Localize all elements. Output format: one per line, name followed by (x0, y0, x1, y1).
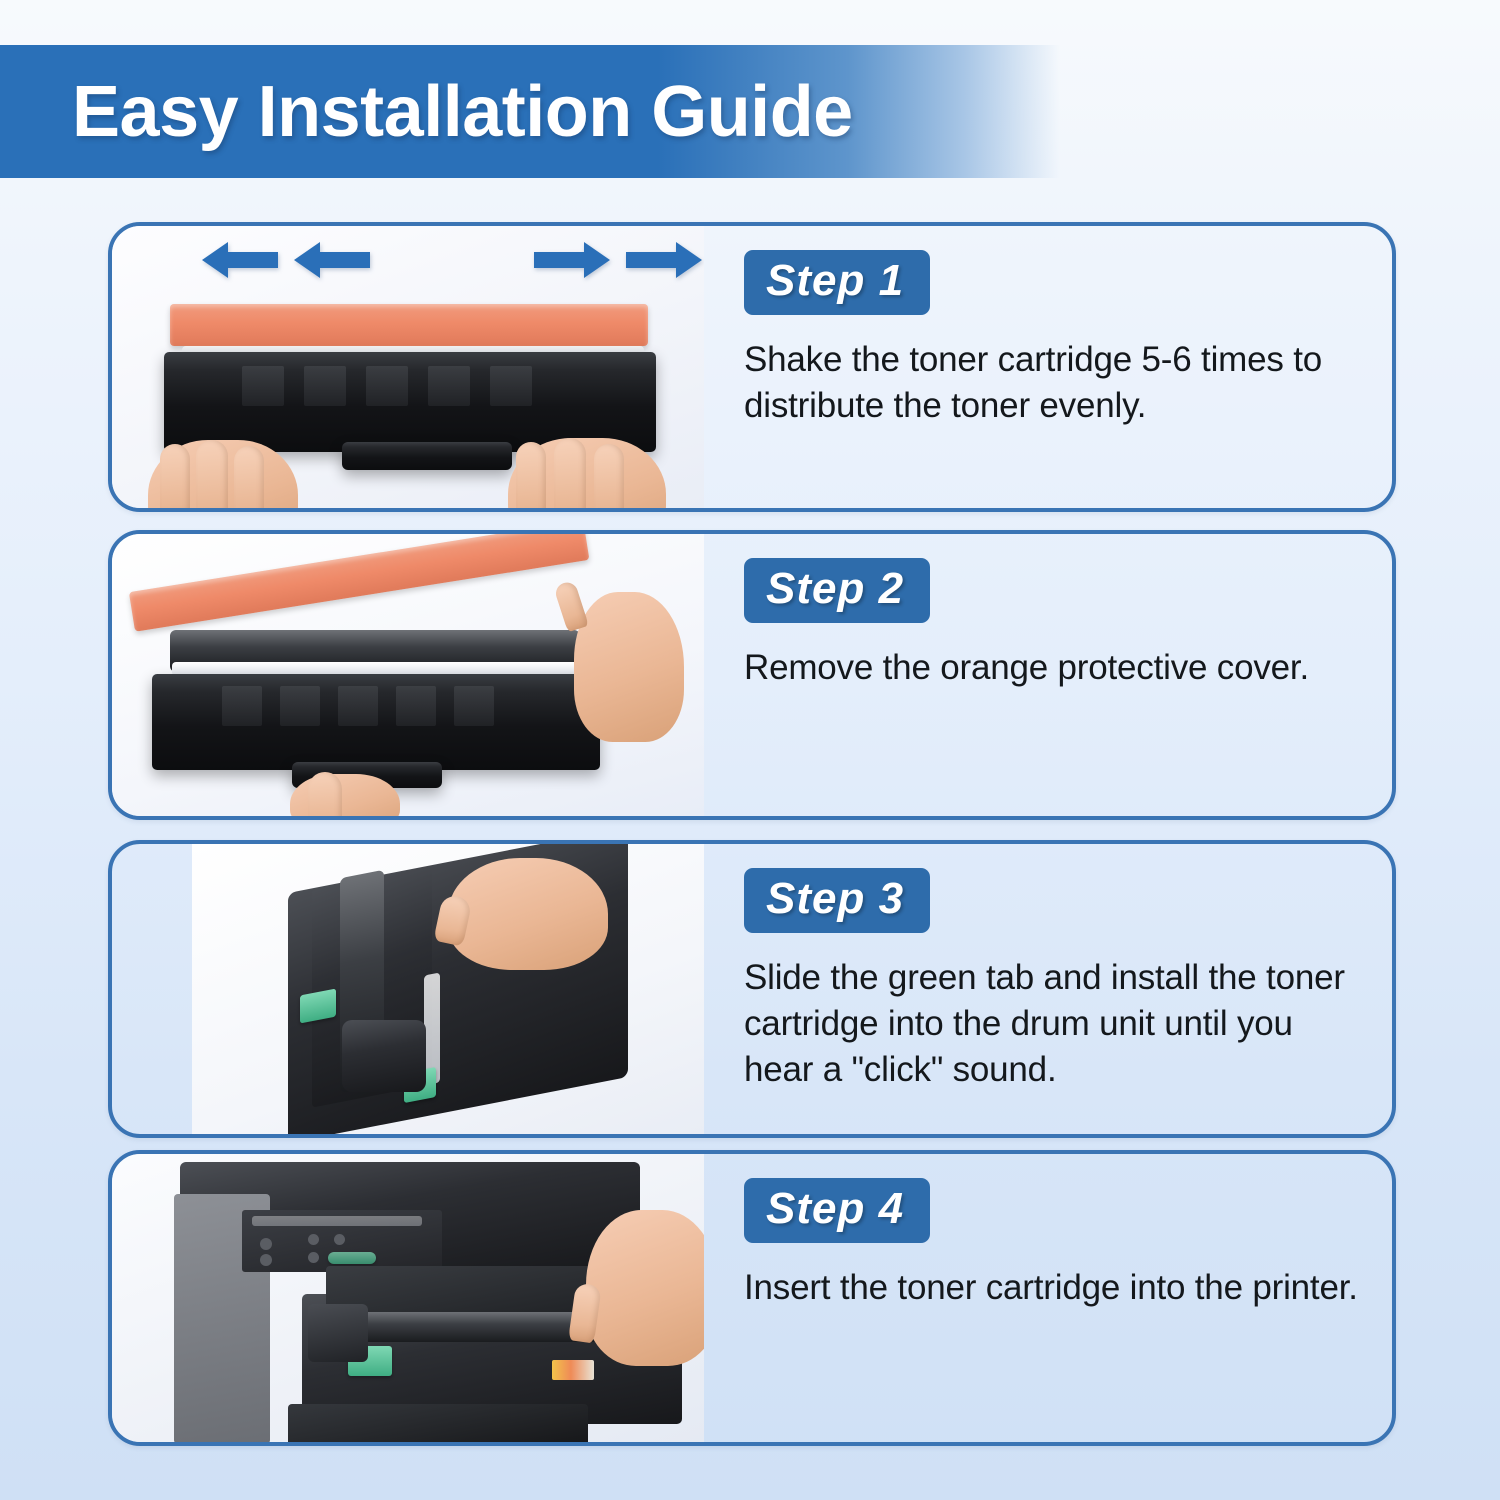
inserting-hand (586, 1210, 704, 1366)
step-card-2: Step 2 Remove the orange protective cove… (108, 530, 1396, 820)
step-3-info: Step 3 Slide the green tab and install t… (704, 844, 1392, 1134)
menu-button-icon (260, 1254, 272, 1266)
arrow-right-2 (626, 240, 702, 280)
orange-cover (170, 304, 648, 346)
toner-cartridge (164, 352, 656, 452)
step-2-description: Remove the orange protective cover. (744, 645, 1334, 691)
step-3-photo (112, 844, 704, 1134)
step-1-description: Shake the toner cartridge 5-6 times to d… (744, 337, 1334, 429)
step-1-info: Step 1 Shake the toner cartridge 5-6 tim… (704, 226, 1392, 508)
nav-ok-button-icon (334, 1234, 345, 1245)
step-3-description: Slide the green tab and install the tone… (744, 955, 1369, 1094)
shake-arrows (112, 226, 704, 288)
step-4-info: Step 4 Insert the toner cartridge into t… (704, 1154, 1392, 1442)
step-2-badge: Step 2 (744, 558, 930, 623)
pulling-hand (574, 592, 684, 742)
step-3-badge: Step 3 (744, 868, 930, 933)
arrow-left-2 (294, 240, 370, 280)
go-button-icon (328, 1252, 376, 1264)
nav-up-button-icon (308, 1234, 319, 1245)
step-card-3: Step 3 Slide the green tab and install t… (108, 840, 1396, 1138)
step-2-info: Step 2 Remove the orange protective cove… (704, 534, 1392, 816)
holding-hand (290, 774, 400, 816)
step-2-photo (112, 534, 704, 816)
step-card-1: Step 1 Shake the toner cartridge 5-6 tim… (108, 222, 1396, 512)
arrow-left-1 (202, 240, 278, 280)
page-title: Easy Installation Guide (72, 71, 853, 153)
step-1-photo (112, 226, 704, 508)
step-4-photo (112, 1154, 704, 1442)
warning-label (552, 1360, 594, 1380)
step-4-badge: Step 4 (744, 1178, 930, 1243)
nav-down-button-icon (308, 1252, 319, 1263)
step-1-badge: Step 1 (744, 250, 930, 315)
step-4-description: Insert the toner cartridge into the prin… (744, 1265, 1359, 1311)
orange-cover-lifted (129, 534, 590, 632)
step-card-4: Step 4 Insert the toner cartridge into t… (108, 1150, 1396, 1446)
arrow-right-1 (534, 240, 610, 280)
power-button-icon (260, 1238, 272, 1250)
header-banner: Easy Installation Guide (0, 45, 1060, 178)
holding-hand (448, 858, 608, 970)
